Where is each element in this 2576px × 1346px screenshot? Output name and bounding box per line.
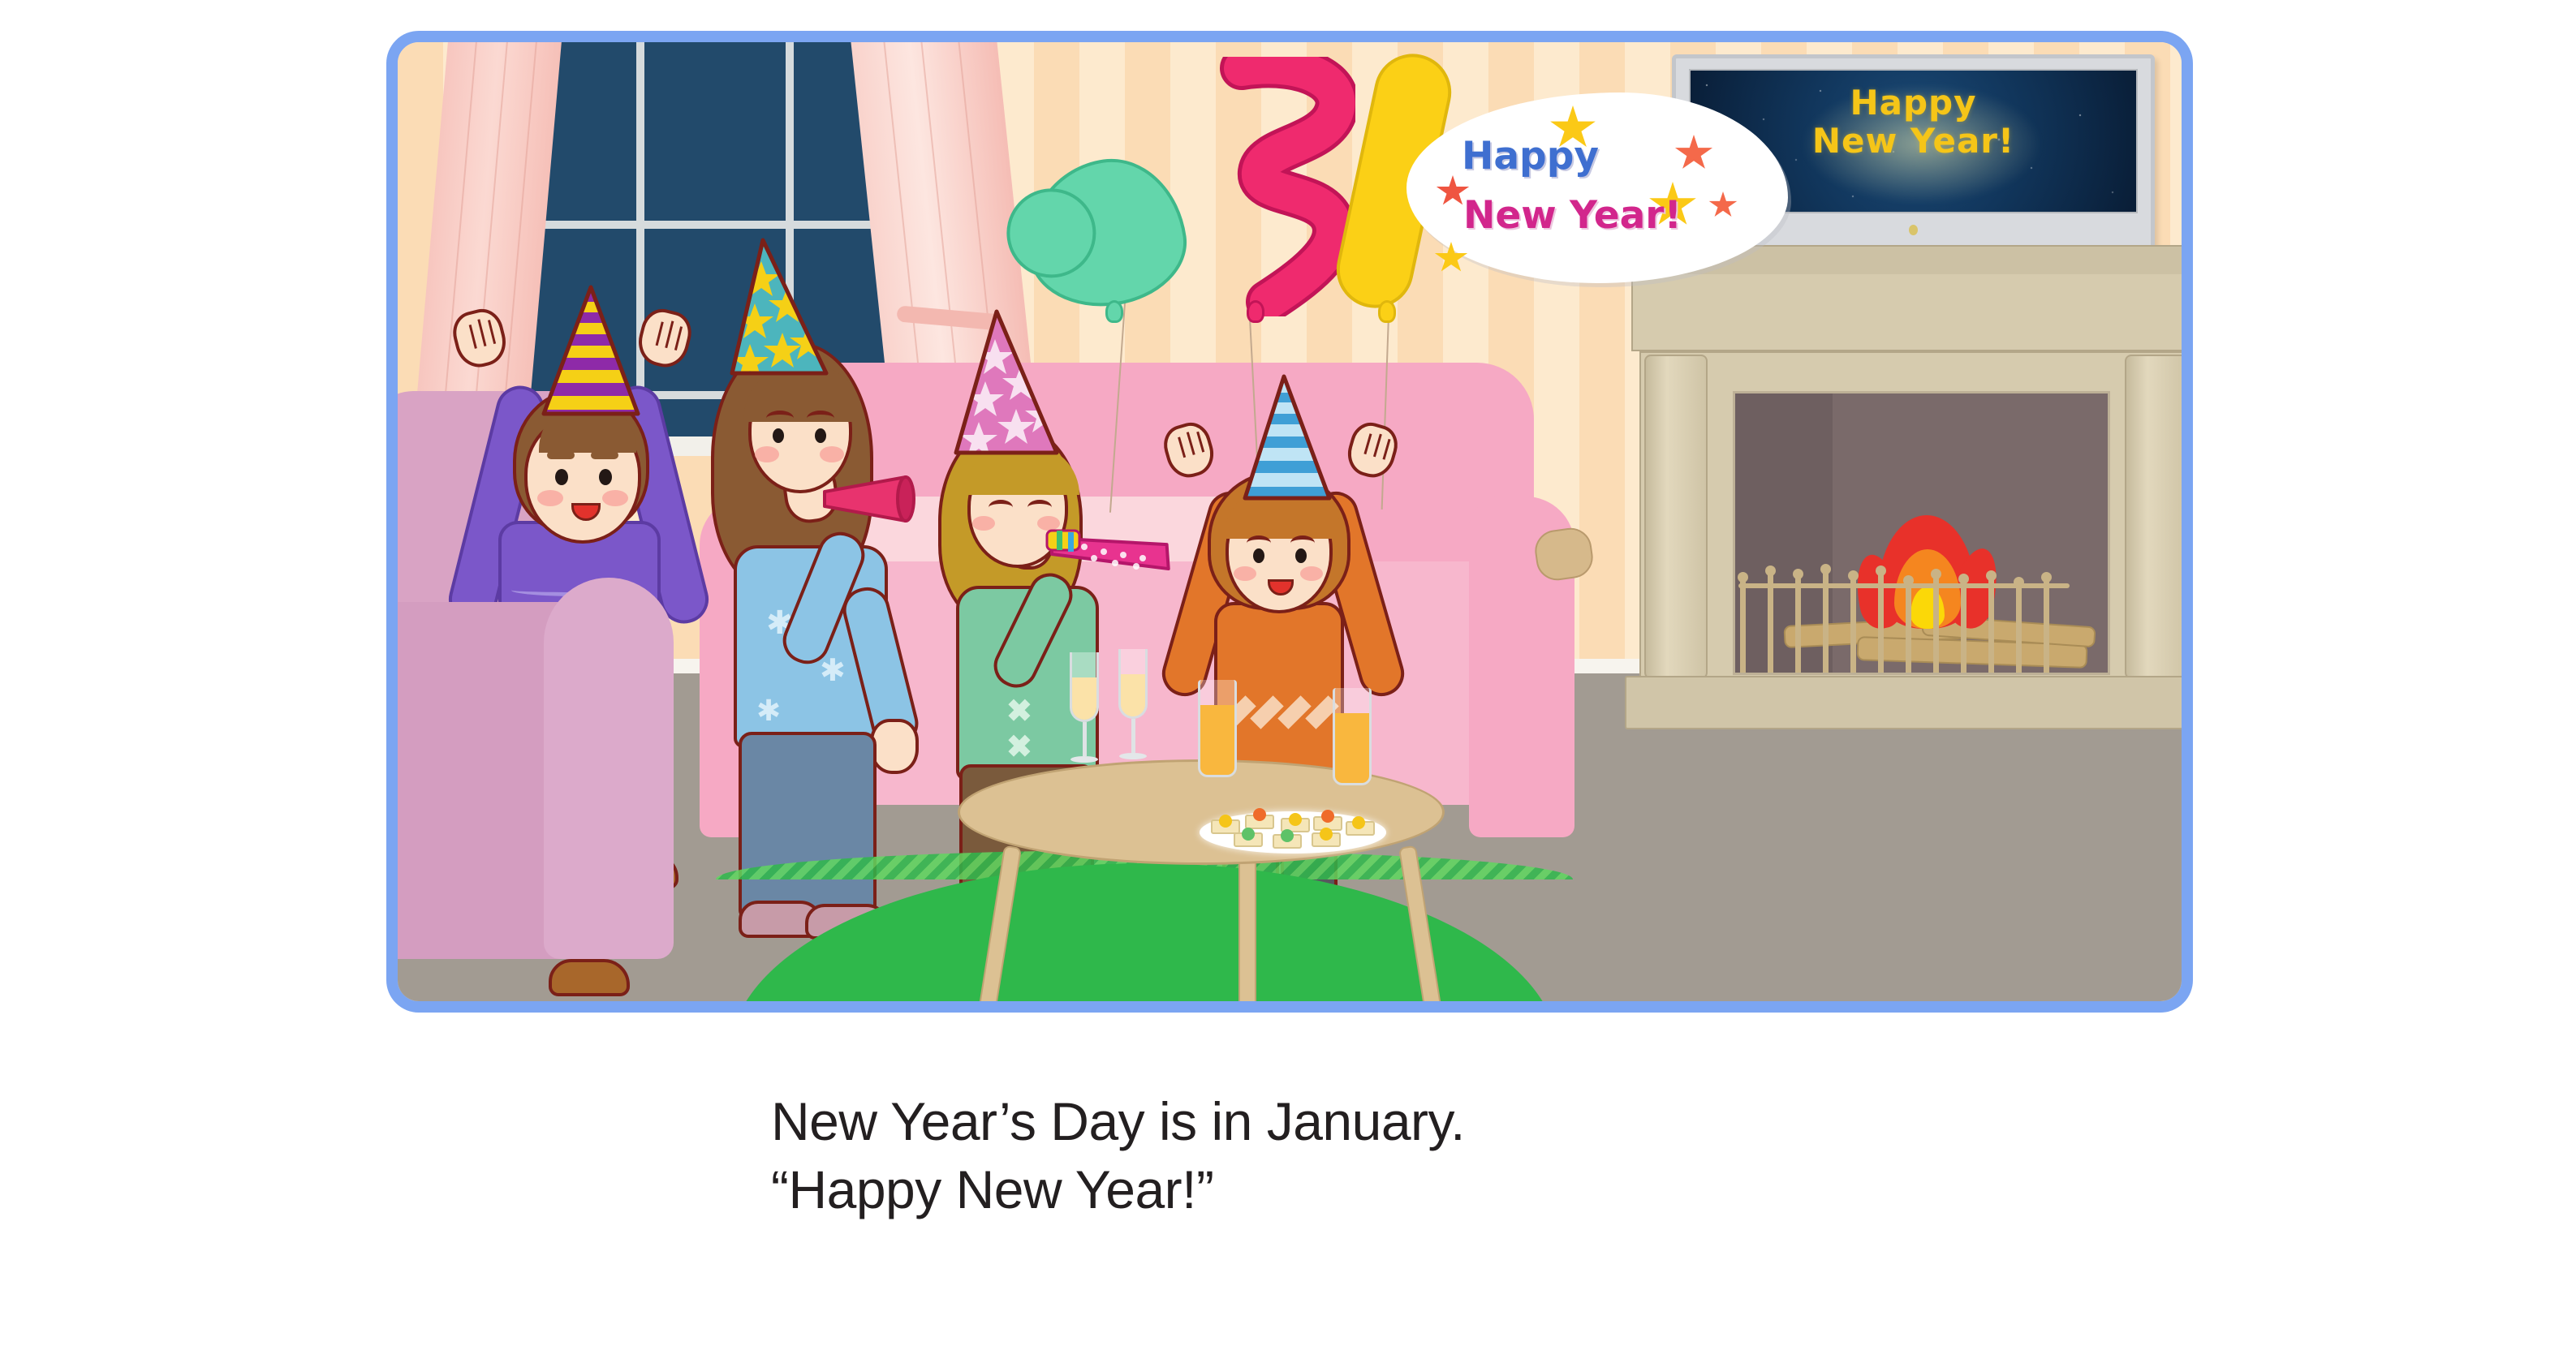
father-eyebrow (547, 451, 575, 459)
fireplace-grate-bar (1850, 577, 1856, 673)
canape-topping (1219, 815, 1232, 828)
boy-eye (1253, 548, 1264, 563)
father-cheek (537, 490, 563, 506)
mother-eye (815, 428, 826, 443)
mother-cheek (820, 446, 844, 462)
caption-line-2: “Happy New Year!” (0, 1155, 2576, 1223)
fireplace-grate-bar (2016, 583, 2022, 673)
mother-cheek (755, 446, 779, 462)
boy-hand-right (1342, 418, 1402, 482)
bubble-line1: Happy (1462, 137, 1599, 175)
fireplace-grate-bar (1933, 575, 1939, 673)
caption-block: New Year’s Day is in January. “Happy New… (0, 1087, 2576, 1224)
fireplace-grate-bar (1740, 578, 1746, 673)
bubble-line2: New Year! (1463, 196, 1682, 234)
fireplace-mantel-band (1631, 274, 2182, 351)
girl-cheek (972, 516, 995, 531)
champagne-flute[interactable] (1118, 649, 1148, 759)
armchair-arm (544, 578, 674, 959)
girl-eye-closed (1027, 500, 1052, 515)
girl-eye-closed (989, 500, 1013, 515)
mother-pants (739, 732, 877, 918)
speech-bubble: Happy New Year! (1406, 92, 1788, 283)
father-eye (599, 469, 612, 485)
fireplace-hearth (1625, 676, 2182, 729)
mother-top-motif: ✱ (820, 656, 846, 686)
father-eye (555, 469, 568, 485)
canape-topping (1242, 828, 1255, 841)
boy-cheek (1300, 566, 1323, 581)
bubble-text: Happy New Year! (1406, 92, 1788, 283)
illustration-frame: Happy New Year! (386, 31, 2193, 1013)
living-room-scene: Happy New Year! (398, 42, 2182, 1001)
fireplace-grate-bar (1961, 580, 1966, 673)
fireplace-grate-bar (2044, 578, 2049, 673)
girl-top-motif: ✖ (1006, 732, 1032, 763)
boy-hand-left (1159, 418, 1219, 482)
mother-eyebrow (766, 411, 794, 426)
fireplace-column-left (1644, 355, 1708, 679)
father-head (524, 415, 641, 544)
father-hand-left (448, 305, 510, 372)
fireplace-column-right (2125, 355, 2182, 679)
boy-head (1226, 495, 1333, 613)
tv-power-indicator-icon (1909, 225, 1918, 235)
fireplace-grate-bar (1906, 582, 1911, 673)
father-eyebrow (591, 451, 618, 459)
caption-line-1: New Year’s Day is in January. (0, 1087, 2576, 1155)
canape-topping (1253, 808, 1266, 821)
canape-topping (1281, 829, 1294, 842)
champagne-flute[interactable] (1070, 652, 1099, 763)
fireplace-grate-bar (1768, 572, 1773, 673)
fireplace-grate-bar (1878, 572, 1884, 673)
boy-mouth (1268, 579, 1294, 596)
canape-topping (1352, 816, 1365, 829)
canape-topping (1320, 828, 1333, 841)
father-mouth (571, 503, 601, 521)
fireplace-grate-bar (1823, 570, 1829, 673)
juice-glass[interactable] (1198, 680, 1237, 777)
fireplace-grate-bar (1795, 575, 1801, 673)
canape-topping (1289, 813, 1302, 826)
table-leg (1238, 854, 1256, 1001)
juice-glass[interactable] (1333, 688, 1372, 785)
canape-topping (1321, 810, 1334, 823)
father-cheek (602, 490, 628, 506)
fireplace-grate-bar (1988, 577, 1994, 673)
mother-top-motif: ✱ (756, 696, 781, 725)
mother-eyebrow (807, 411, 834, 426)
fireplace-opening (1733, 391, 2110, 675)
father-shoe (549, 959, 630, 996)
boy-eye (1295, 548, 1307, 563)
girl-top-motif: ✖ (1006, 696, 1032, 727)
mother-eye (773, 428, 784, 443)
boy-cheek (1234, 566, 1256, 581)
